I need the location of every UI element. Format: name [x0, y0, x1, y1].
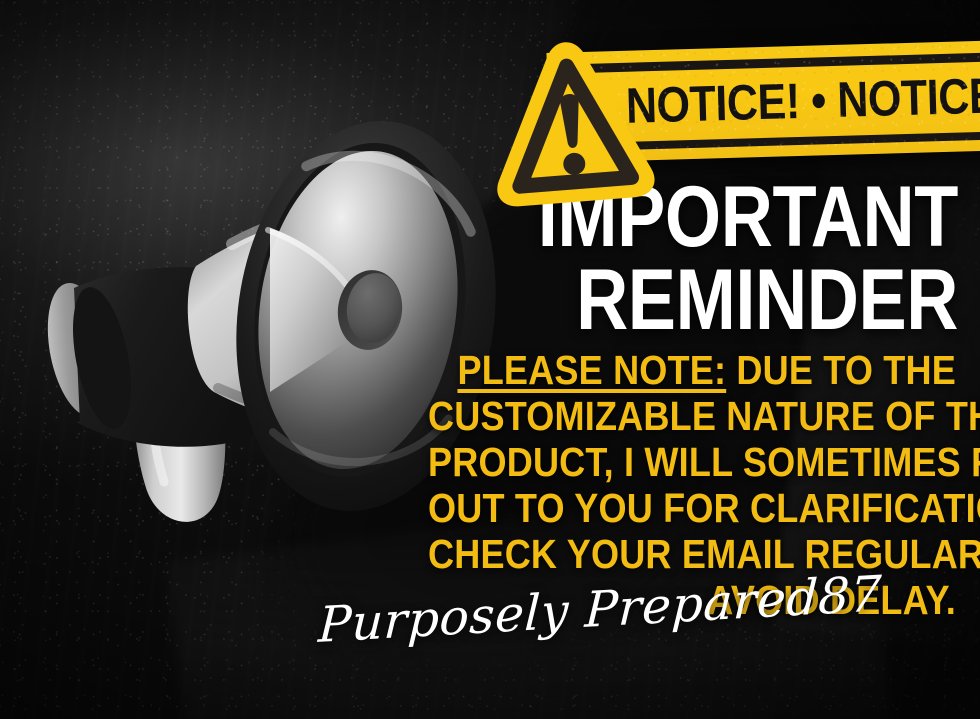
body-line-2: CUSTOMIZABLE NATURE OF THIS	[428, 394, 956, 440]
please-note-emphasis: PLEASE NOTE:	[457, 347, 726, 393]
body-line-4: OUT TO YOU FOR CLARIFICATION. PLEASE	[428, 486, 956, 532]
warning-triangle-icon	[481, 30, 662, 215]
body-line-1-rest: DUE TO THE	[726, 347, 956, 393]
body-line-1: PLEASE NOTE: DUE TO THE	[428, 348, 956, 394]
notice-banner-text: NOTICE! • NOTICE!	[625, 71, 963, 130]
body-line-3: PRODUCT, I WILL SOMETIMES REACH	[428, 440, 956, 486]
headline-line-2: REMINDER	[420, 259, 958, 342]
notice-poster: NOTICE! • NOTICE! IMPORTANT REMINDER PLE…	[0, 0, 980, 719]
